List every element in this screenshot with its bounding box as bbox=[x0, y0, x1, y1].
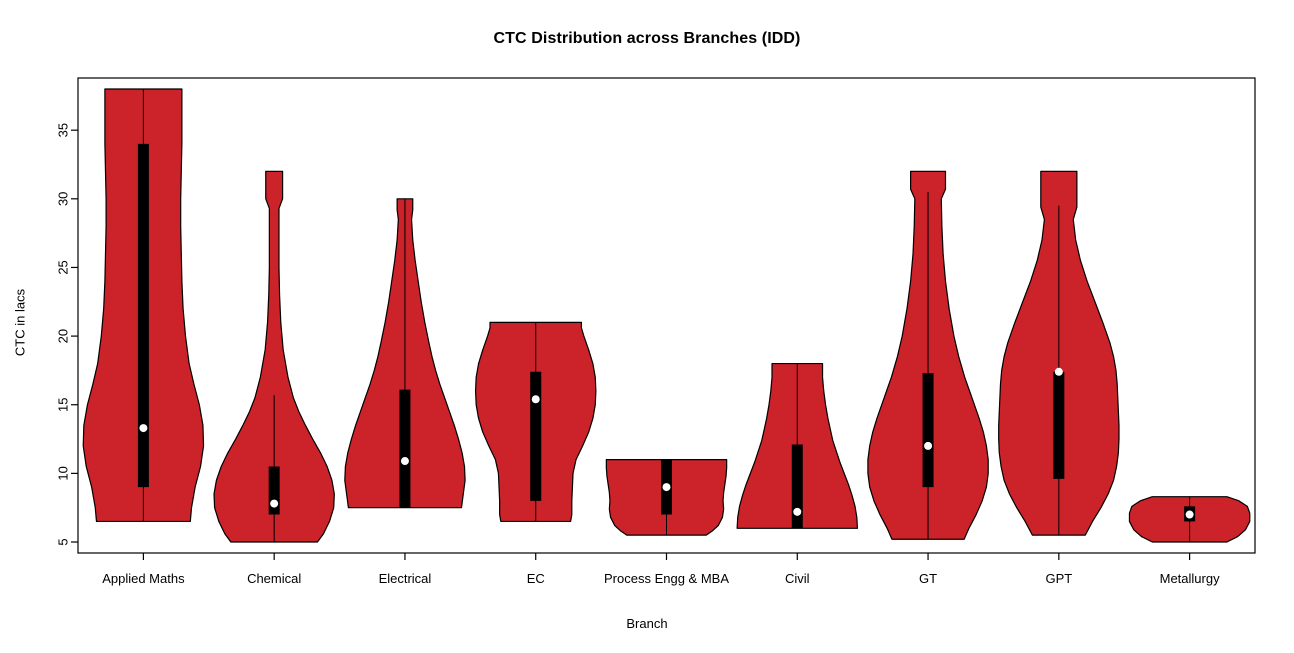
violin-plot-figure: CTC Distribution across Branches (IDD) C… bbox=[0, 0, 1294, 653]
y-axis-tick-label: 15 bbox=[55, 397, 70, 411]
median-marker bbox=[924, 442, 932, 450]
x-axis: Applied MathsChemicalElectricalECProcess… bbox=[102, 553, 1220, 586]
median-marker bbox=[1055, 368, 1063, 376]
x-axis-tick-label: Chemical bbox=[247, 571, 301, 586]
y-axis-tick-label: 35 bbox=[55, 123, 70, 137]
violin-gt bbox=[868, 171, 988, 539]
x-axis-tick-label: Civil bbox=[785, 571, 810, 586]
violin-gpt bbox=[999, 171, 1119, 535]
median-marker bbox=[139, 424, 147, 432]
y-axis-tick-label: 25 bbox=[55, 260, 70, 274]
violin-plot-canvas: 5101520253035 Applied MathsChemicalElect… bbox=[0, 0, 1294, 653]
y-axis-tick-label: 10 bbox=[55, 466, 70, 480]
x-axis-tick-label: Process Engg & MBA bbox=[604, 571, 729, 586]
violin-ec bbox=[476, 322, 596, 521]
y-axis: 5101520253035 bbox=[55, 123, 78, 546]
x-axis-tick-label: GPT bbox=[1045, 571, 1072, 586]
x-axis-tick-label: Applied Maths bbox=[102, 571, 185, 586]
y-axis-tick-label: 5 bbox=[55, 538, 70, 545]
violin-civil bbox=[737, 364, 857, 529]
y-axis-tick-label: 20 bbox=[55, 329, 70, 343]
x-axis-tick-label: GT bbox=[919, 571, 937, 586]
median-marker bbox=[532, 395, 540, 403]
median-marker bbox=[270, 500, 278, 508]
violin-metallurgy bbox=[1129, 497, 1249, 542]
violin-electrical bbox=[345, 199, 465, 508]
median-marker bbox=[1186, 511, 1194, 519]
y-axis-tick-label: 30 bbox=[55, 192, 70, 206]
violin-series-group bbox=[83, 89, 1250, 542]
x-axis-tick-label: Electrical bbox=[379, 571, 432, 586]
violin-applied-maths bbox=[83, 89, 203, 521]
median-marker bbox=[793, 508, 801, 516]
median-marker bbox=[401, 457, 409, 465]
x-axis-tick-label: EC bbox=[527, 571, 545, 586]
violin-chemical bbox=[214, 171, 334, 542]
x-axis-tick-label: Metallurgy bbox=[1160, 571, 1220, 586]
violin-process-engg-mba bbox=[606, 460, 726, 536]
median-marker bbox=[663, 483, 671, 491]
